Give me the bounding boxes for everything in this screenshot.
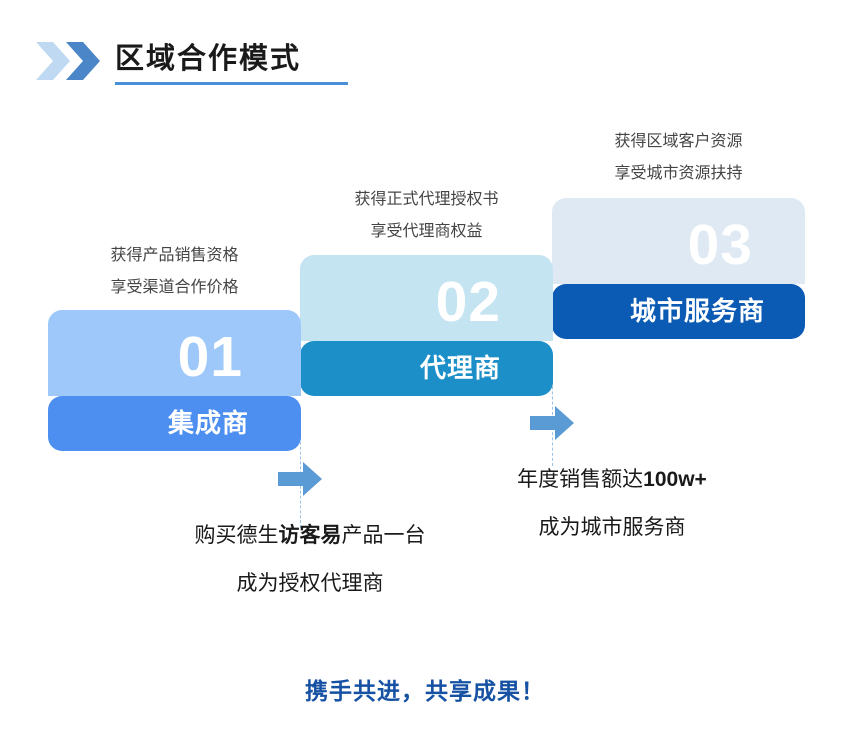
requirement-suffix: 产品一台 <box>342 524 426 547</box>
benefits-tier-1: 获得产品销售资格 享受渠道合作价格 <box>48 240 301 304</box>
benefit-line: 享受渠道合作价格 <box>48 272 301 304</box>
header: 区域合作模式 <box>0 0 850 110</box>
requirement-line-1: 年度销售额达100w+ <box>472 456 752 504</box>
arrow-right-icon <box>530 406 574 440</box>
benefit-line: 获得产品销售资格 <box>48 240 301 272</box>
benefit-line: 获得区域客户资源 <box>552 126 805 158</box>
tier-role-label: 集成商 <box>48 396 249 451</box>
chevron-right-dark-icon <box>66 42 100 80</box>
requirement-line-1: 购买德生访客易产品一台 <box>145 512 475 560</box>
benefits-tier-2: 获得正式代理授权书 享受代理商权益 <box>300 184 553 248</box>
footer-slogan: 携手共进，共享成果！ <box>0 672 850 706</box>
requirement-emphasis: 100w+ <box>643 468 707 491</box>
tier-card-agent[interactable]: 02 代理商 <box>300 255 553 396</box>
tier-number: 03 <box>688 202 753 288</box>
tier-card-footer: 集成商 <box>48 396 301 451</box>
requirement-tier-3: 年度销售额达100w+ 成为城市服务商 <box>472 456 752 552</box>
benefit-line: 获得正式代理授权书 <box>300 184 553 216</box>
tier-role-label: 城市服务商 <box>552 284 765 339</box>
page-title: 区域合作模式 <box>115 40 348 78</box>
requirement-emphasis: 访客易 <box>279 524 342 547</box>
tier-role-label: 代理商 <box>300 341 501 396</box>
tier-card-body: 02 <box>300 255 553 341</box>
tier-number: 01 <box>178 314 243 400</box>
requirement-tier-2: 购买德生访客易产品一台 成为授权代理商 <box>145 512 475 608</box>
benefit-line: 享受城市资源扶持 <box>552 158 805 190</box>
arrow-right-icon <box>278 462 322 496</box>
requirement-prefix: 年度销售额达 <box>517 468 643 491</box>
tier-card-body: 01 <box>48 310 301 396</box>
tier-card-footer: 代理商 <box>300 341 553 396</box>
tier-card-footer: 城市服务商 <box>552 284 805 339</box>
requirement-line-2: 成为城市服务商 <box>472 504 752 552</box>
requirement-prefix: 购买德生 <box>195 524 279 547</box>
tier-card-city-service-provider[interactable]: 03 城市服务商 <box>552 198 805 339</box>
tier-card-body: 03 <box>552 198 805 284</box>
tier-number: 02 <box>436 259 501 345</box>
tier-card-integrator[interactable]: 01 集成商 <box>48 310 301 451</box>
benefit-line: 享受代理商权益 <box>300 216 553 248</box>
requirement-line-2: 成为授权代理商 <box>145 560 475 608</box>
title-underline <box>115 82 348 85</box>
benefits-tier-3: 获得区域客户资源 享受城市资源扶持 <box>552 126 805 190</box>
chevron-right-light-icon <box>36 42 70 80</box>
infographic-canvas: 区域合作模式 获得产品销售资格 享受渠道合作价格 获得正式代理授权书 享受代理商… <box>0 0 850 737</box>
chevron-group <box>36 42 112 80</box>
page-title-wrap: 区域合作模式 <box>115 40 348 85</box>
